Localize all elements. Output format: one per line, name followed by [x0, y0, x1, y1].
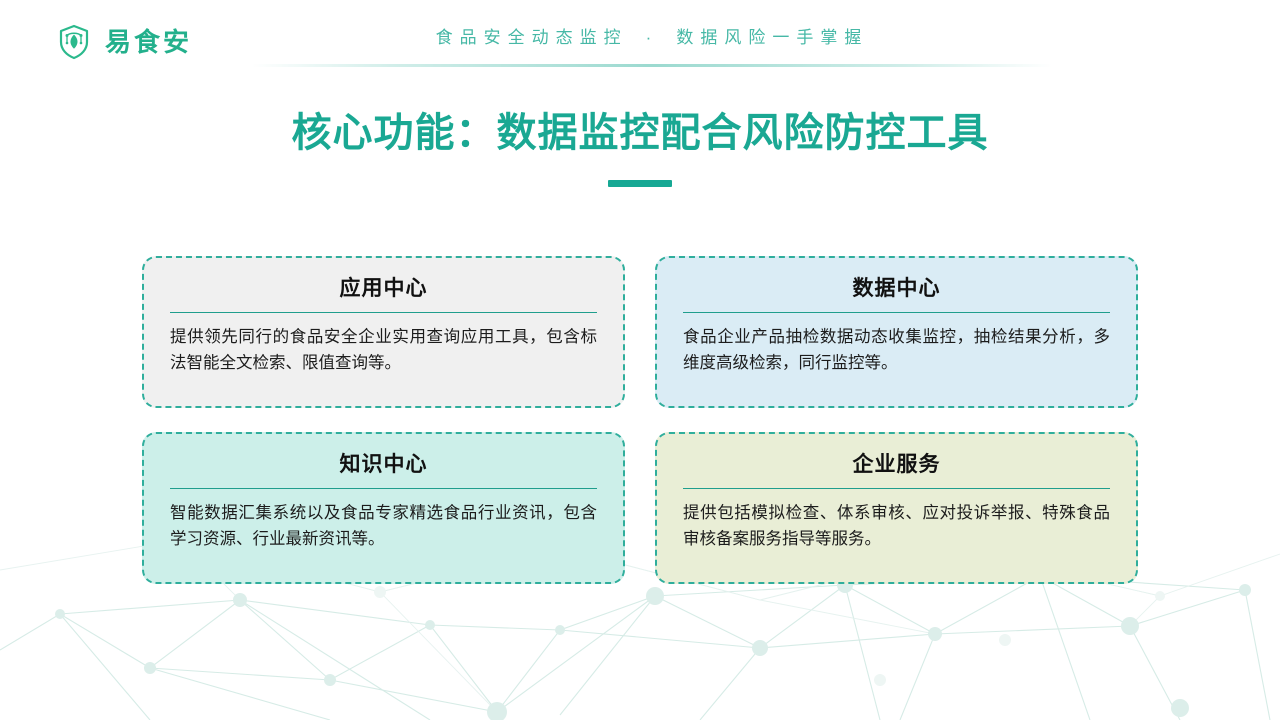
page-header: 易食安 食品安全动态监控·数据风险一手掌握: [0, 0, 1280, 78]
shield-leaf-logo-icon: [54, 22, 94, 62]
brand-lockup[interactable]: 易食安: [54, 22, 192, 62]
card-body: 提供领先同行的食品安全企业实用查询应用工具，包含标法智能全文检索、限值查询等。: [170, 325, 597, 376]
page-title: 核心功能：数据监控配合风险防控工具: [0, 108, 1280, 158]
card-title: 知识中心: [170, 452, 597, 477]
card-title: 企业服务: [683, 452, 1110, 477]
card-body: 提供包括模拟检查、体系审核、应对投诉举报、特殊食品审核备案服务指导等服务。: [683, 501, 1110, 552]
card-divider: [170, 312, 597, 313]
card-divider: [683, 488, 1110, 489]
feature-card-data-center[interactable]: 数据中心 食品企业产品抽检数据动态收集监控，抽检结果分析，多维度高级检索，同行监…: [655, 256, 1138, 408]
header-tagline: 食品安全动态监控·数据风险一手掌握: [252, 28, 1052, 48]
tagline-separator-dot: ·: [628, 28, 677, 47]
feature-card-enterprise-service[interactable]: 企业服务 提供包括模拟检查、体系审核、应对投诉举报、特殊食品审核备案服务指导等服…: [655, 432, 1138, 584]
feature-card-grid: 应用中心 提供领先同行的食品安全企业实用查询应用工具，包含标法智能全文检索、限值…: [142, 256, 1138, 584]
header-divider: [252, 64, 1052, 67]
card-divider: [170, 488, 597, 489]
feature-card-application-center[interactable]: 应用中心 提供领先同行的食品安全企业实用查询应用工具，包含标法智能全文检索、限值…: [142, 256, 625, 408]
tagline-left-text: 食品安全动态监控: [436, 28, 628, 47]
tagline-right-text: 数据风险一手掌握: [676, 28, 868, 47]
feature-card-knowledge-center[interactable]: 知识中心 智能数据汇集系统以及食品专家精选食品行业资讯，包含学习资源、行业最新资…: [142, 432, 625, 584]
card-body: 智能数据汇集系统以及食品专家精选食品行业资讯，包含学习资源、行业最新资讯等。: [170, 501, 597, 552]
brand-name: 易食安: [105, 29, 192, 55]
title-underline-bar: [608, 180, 672, 187]
card-divider: [683, 312, 1110, 313]
card-body: 食品企业产品抽检数据动态收集监控，抽检结果分析，多维度高级检索，同行监控等。: [683, 325, 1110, 376]
card-title: 数据中心: [683, 276, 1110, 301]
title-block: 核心功能：数据监控配合风险防控工具: [0, 108, 1280, 187]
card-title: 应用中心: [170, 276, 597, 301]
